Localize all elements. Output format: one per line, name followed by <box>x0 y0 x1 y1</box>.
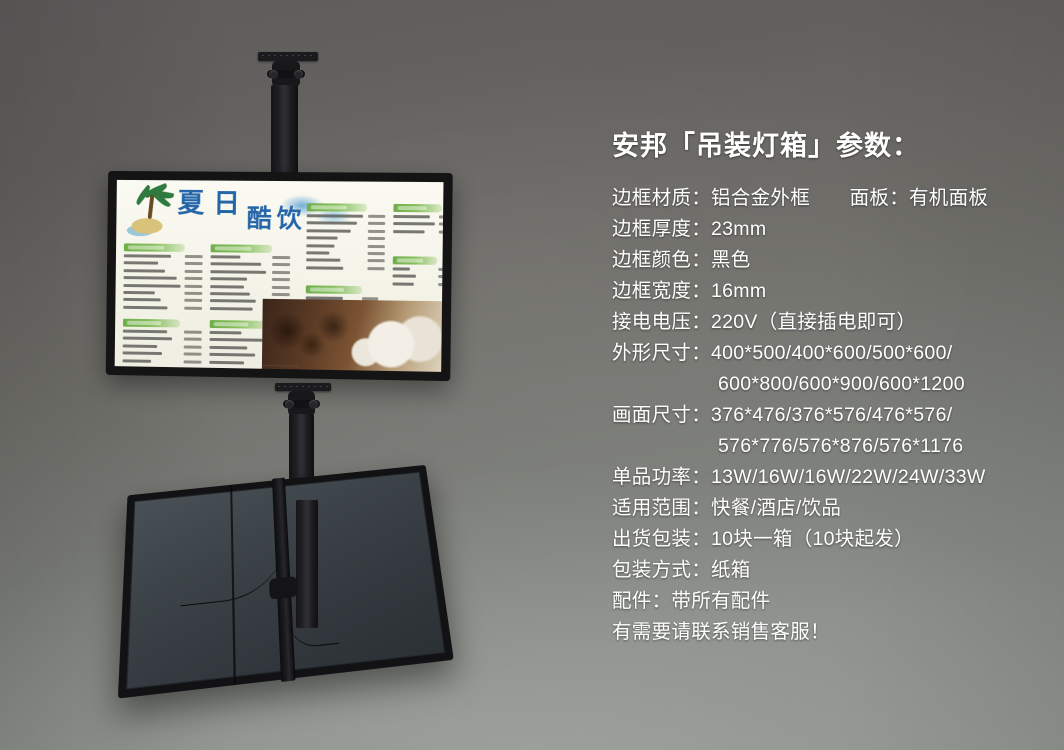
lightbox-panel-front: 夏 日 酷 饮 <box>106 171 453 381</box>
menu-rows <box>392 267 443 290</box>
menu-section-header <box>210 320 268 329</box>
coffee-cup-photo <box>262 299 442 372</box>
lightbox-panel-back <box>118 465 454 699</box>
spec-line: 边框厚度：23mm <box>612 214 1052 245</box>
menu-section-header <box>124 243 185 252</box>
spec-line: 单品功率：13W/16W/16W/22W/24W/33W <box>612 462 1052 493</box>
poster-title-char: 酷 <box>247 207 272 232</box>
menu-section-header <box>306 285 362 294</box>
product-detail-image: 夏 日 酷 饮 <box>0 0 1064 750</box>
ceiling-mount-plate <box>258 52 318 61</box>
spec-line: 边框材质：铝合金外框 面板：有机面板 <box>612 183 1052 214</box>
menu-section-header <box>393 204 442 212</box>
menu-section-header <box>123 319 180 328</box>
spec-line: 外形尺寸：400*500/400*600/500*600/ <box>612 338 1052 369</box>
upper-swivel-joint <box>272 61 300 87</box>
lower-pole-extension <box>296 500 318 628</box>
spec-line: 边框颜色：黑色 <box>612 245 1052 276</box>
swivel-knob-icon <box>309 400 318 409</box>
menu-section-header <box>393 256 438 265</box>
spec-line: 适用范围：快餐/酒店/饮品 <box>612 493 1052 524</box>
poster-title-char: 日 <box>213 191 240 218</box>
back-panel-pivot <box>269 576 298 600</box>
spec-line: 接电电压：220V（直接插电即可） <box>612 307 1052 338</box>
spec-line: 配件：带所有配件 <box>612 586 1052 617</box>
spec-line: 600*800/600*900/600*1200 <box>612 369 1052 400</box>
poster-title-char: 饮 <box>277 207 302 232</box>
menu-display-face: 夏 日 酷 饮 <box>115 180 444 372</box>
poster-title-char: 夏 <box>177 190 204 217</box>
spec-line: 有需要请联系销售客服！ <box>612 617 1052 648</box>
swivel-knob-icon <box>285 400 294 409</box>
spec-line: 画面尺寸：376*476/376*576/476*576/ <box>612 400 1052 431</box>
menu-section-header <box>307 203 367 212</box>
swivel-knob-icon <box>269 70 278 79</box>
product-photograph: 夏 日 酷 饮 <box>0 0 580 750</box>
menu-section-header <box>211 244 273 253</box>
menu-rows <box>393 215 443 238</box>
spec-line: 边框宽度：16mm <box>612 276 1052 307</box>
swivel-knob-icon <box>294 70 303 79</box>
spec-line: 576*776/576*876/576*1176 <box>612 431 1052 462</box>
poster-watermark: ·························· <box>254 363 299 369</box>
menu-rows <box>122 330 201 368</box>
spec-line: 出货包装：10块一箱（10块起发） <box>612 524 1052 555</box>
specification-panel: 安邦「吊装灯箱」参数： 边框材质：铝合金外框 面板：有机面板边框厚度：23mm边… <box>612 124 1052 648</box>
specs-list: 边框材质：铝合金外框 面板：有机面板边框厚度：23mm边框颜色：黑色边框宽度：1… <box>612 183 1052 648</box>
lower-mount-plate <box>275 383 331 391</box>
upper-mount-pole <box>271 85 298 177</box>
menu-rows <box>123 254 203 314</box>
menu-rows <box>306 214 385 274</box>
specs-title: 安邦「吊装灯箱」参数： <box>612 124 1052 163</box>
lower-swivel-joint <box>288 391 315 416</box>
spec-line: 包装方式：纸箱 <box>612 555 1052 586</box>
